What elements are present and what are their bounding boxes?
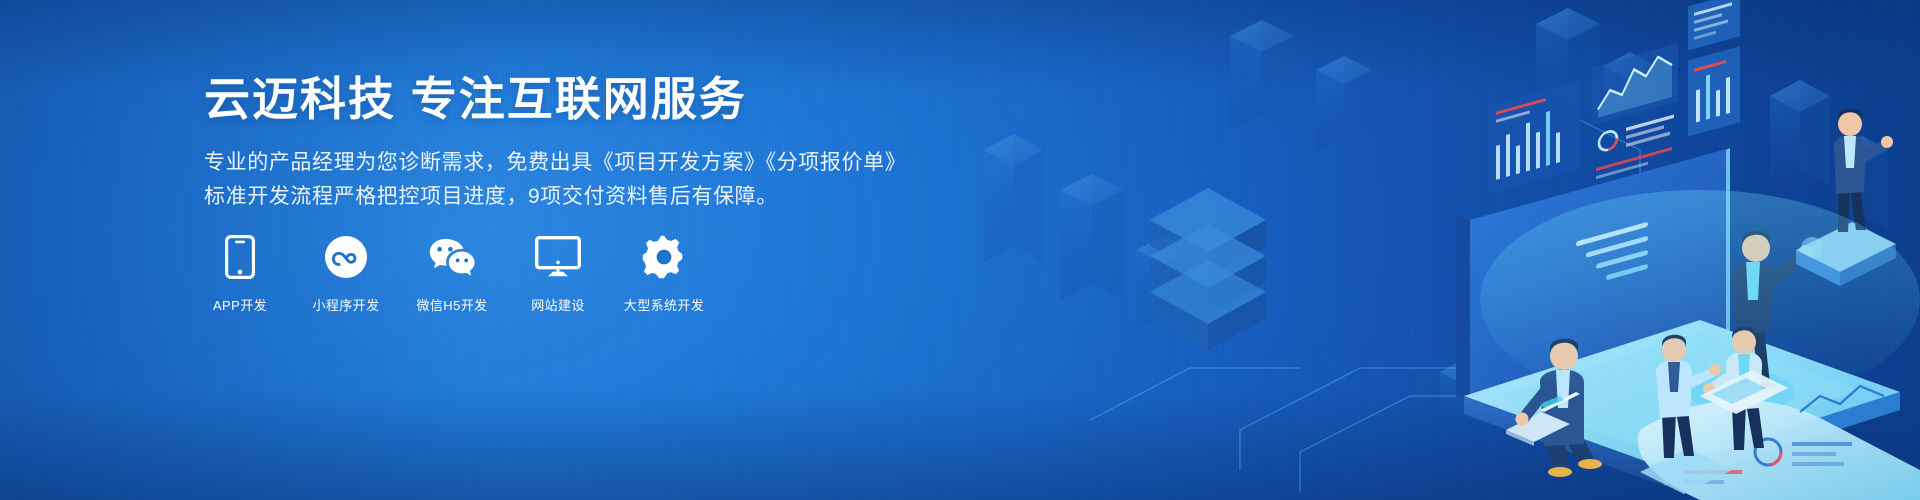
gear-icon — [642, 232, 686, 282]
service-item-mini-program[interactable]: 小程序开发 — [310, 232, 382, 314]
page-title: 云迈科技 专注互联网服务 — [204, 72, 924, 126]
service-item-app[interactable]: APP开发 — [204, 232, 276, 314]
illustration — [940, 0, 1920, 500]
service-label: APP开发 — [213, 295, 267, 314]
service-label: 小程序开发 — [312, 295, 379, 314]
promo-banner: 云迈科技 专注互联网服务 专业的产品经理为您诊断需求，免费出具《项目开发方案》《… — [0, 0, 1920, 500]
wechat-icon — [427, 232, 477, 282]
service-item-website[interactable]: 网站建设 — [522, 232, 594, 314]
mini-program-icon — [324, 232, 368, 282]
service-label: 微信H5开发 — [416, 295, 487, 314]
copy-block: 云迈科技 专注互联网服务 专业的产品经理为您诊断需求，免费出具《项目开发方案》《… — [204, 72, 924, 214]
subtitle-line-2: 标准开发流程严格把控项目进度，9项交付资料售后有保障。 — [204, 180, 924, 214]
service-label: 网站建设 — [531, 295, 585, 314]
service-list: APP开发 小程序开发 微信 — [204, 232, 700, 314]
monitor-icon — [535, 232, 581, 282]
mobile-phone-icon — [225, 232, 255, 282]
subtitle-line-1: 专业的产品经理为您诊断需求，免费出具《项目开发方案》《分项报价单》 — [204, 146, 924, 180]
service-label: 大型系统开发 — [624, 295, 704, 314]
service-item-wechat-h5[interactable]: 微信H5开发 — [416, 232, 488, 314]
service-item-large-system[interactable]: 大型系统开发 — [628, 232, 700, 314]
server-stack — [1150, 188, 1266, 350]
